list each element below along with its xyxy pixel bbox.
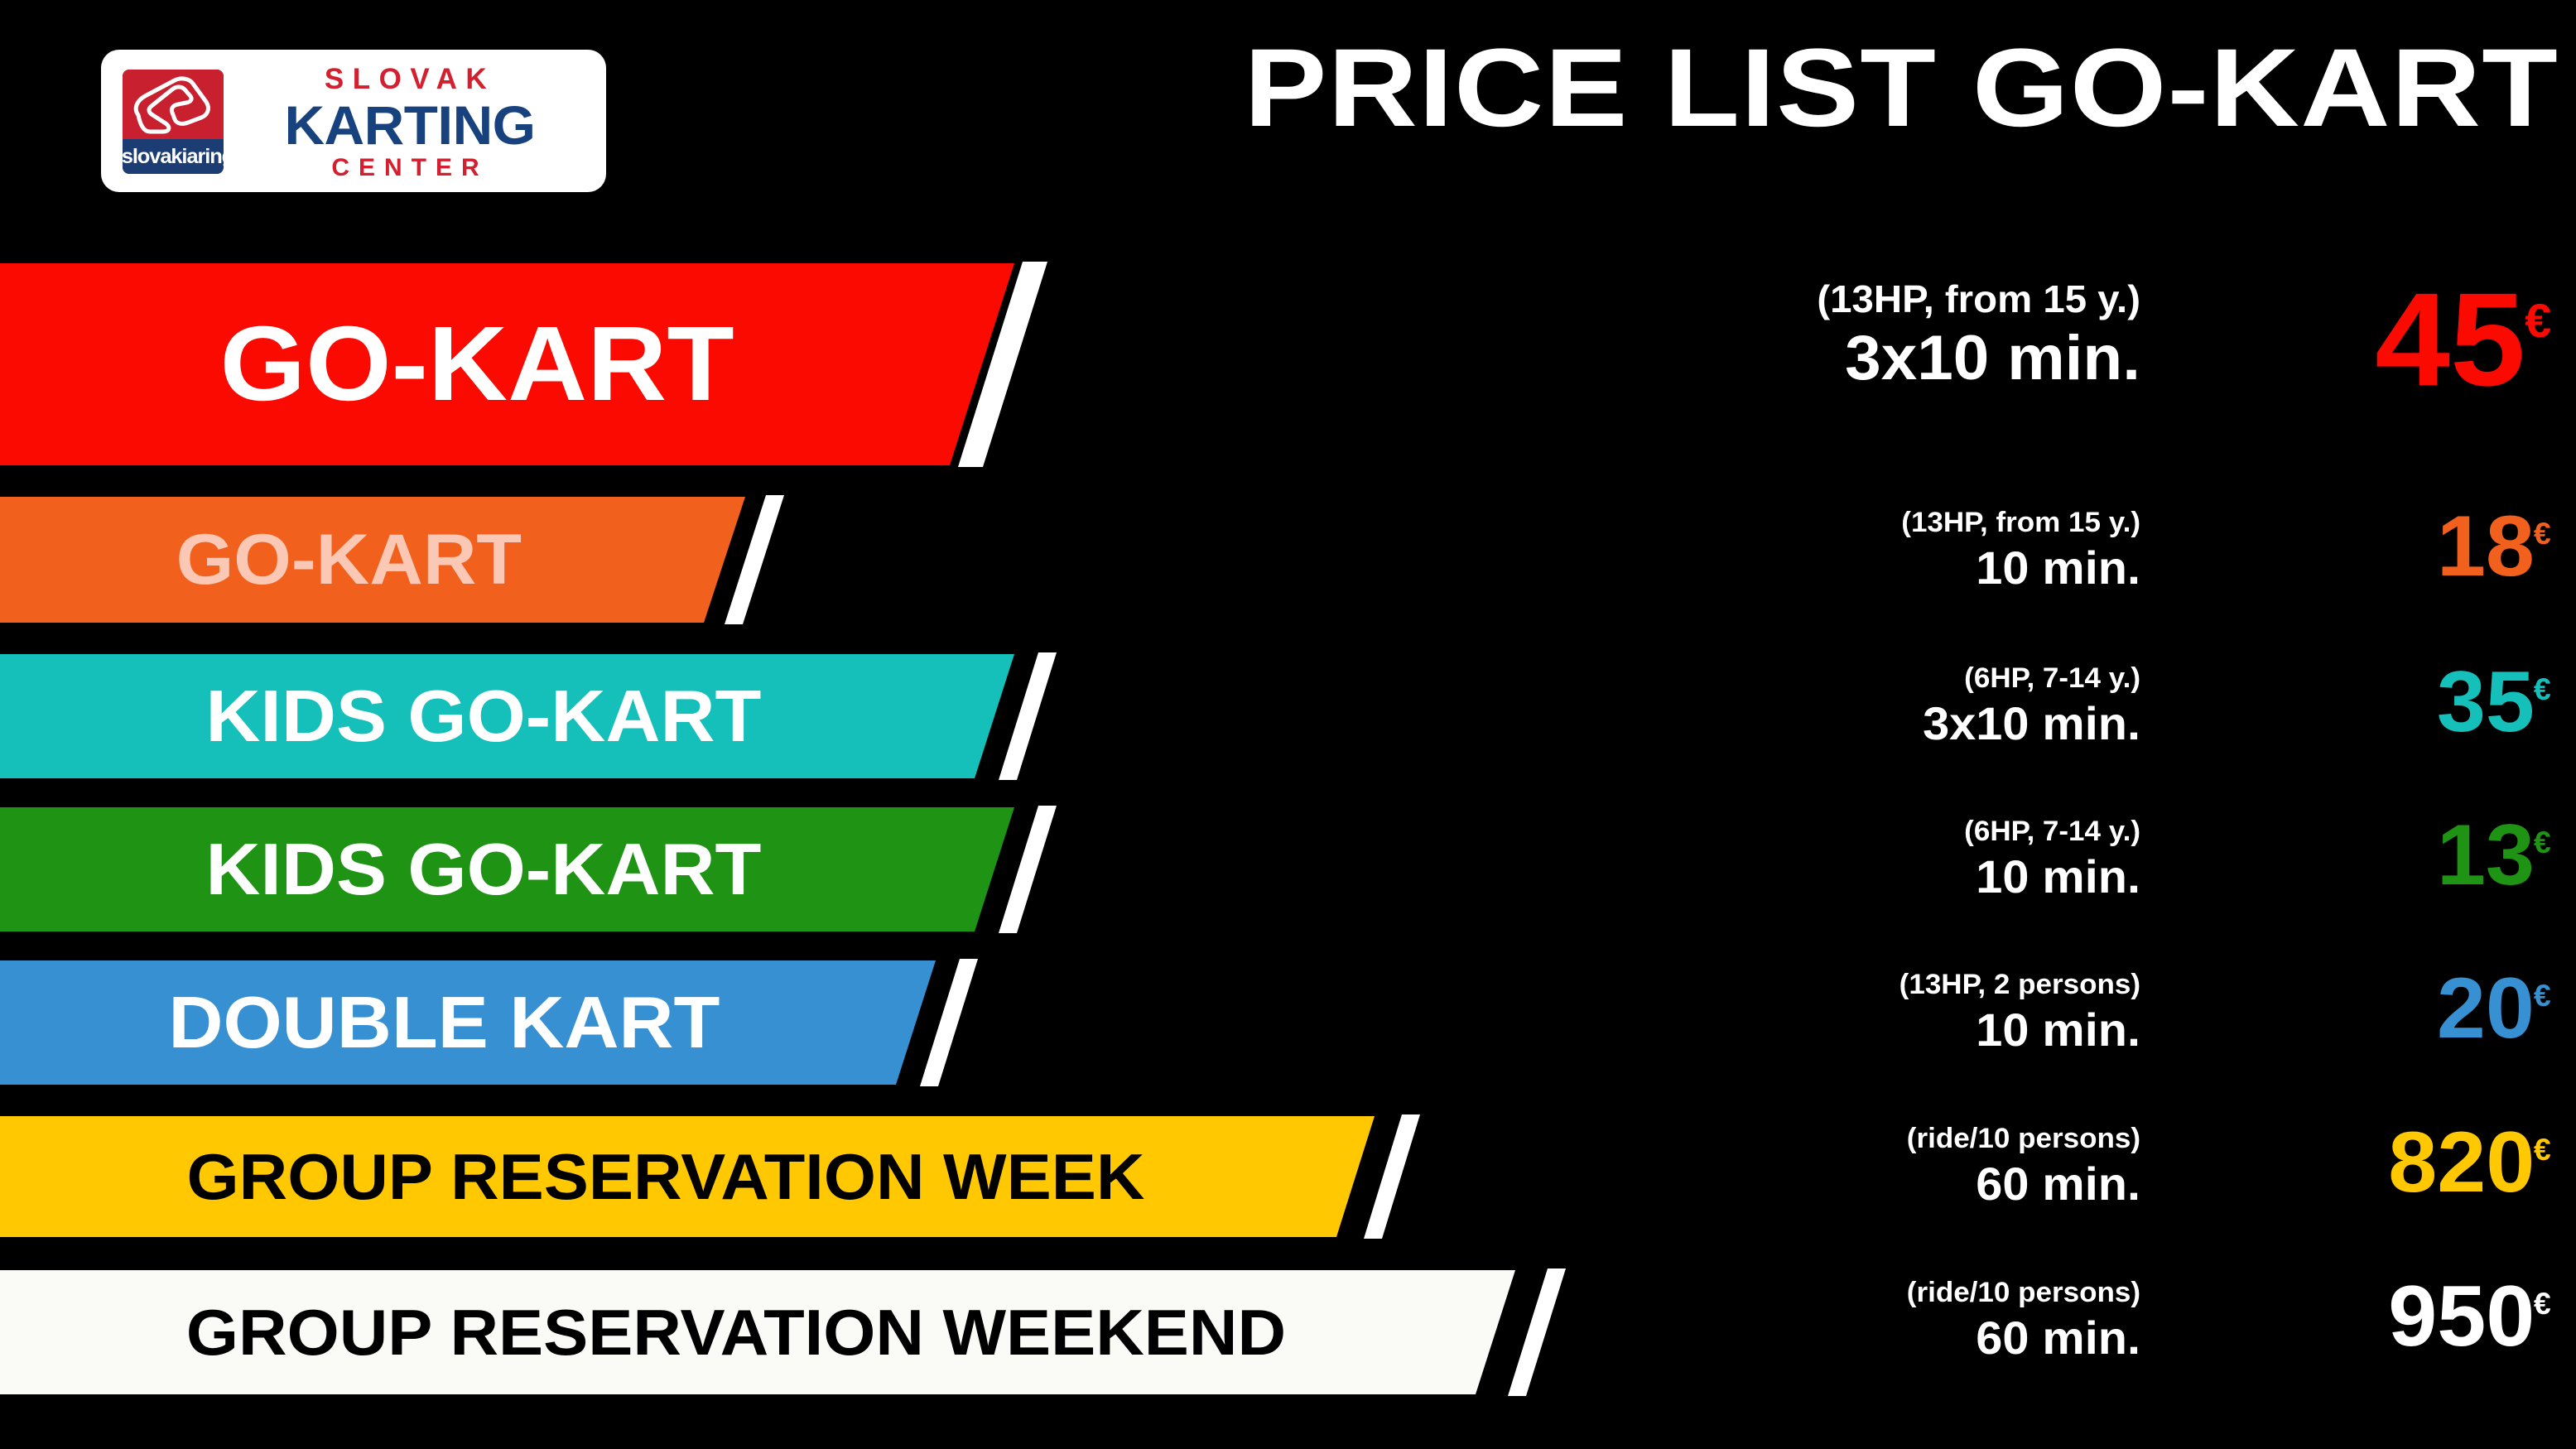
- row-banner-label: GO-KART: [0, 524, 760, 595]
- row-price-amount: 820: [2388, 1119, 2535, 1206]
- slovakiaring-badge: slovakiaring: [123, 70, 224, 174]
- row-price: 45€: [1805, 273, 2550, 406]
- row-banner-label: DOUBLE KART: [0, 986, 955, 1059]
- badge-wordmark: slovakiaring: [123, 139, 224, 174]
- row-banner[interactable]: GO-KART: [0, 497, 745, 623]
- row-price: 35€: [1805, 659, 2550, 745]
- row-banner[interactable]: GO-KART: [0, 263, 1014, 465]
- euro-icon: €: [2534, 1132, 2551, 1167]
- euro-icon: €: [2534, 825, 2551, 859]
- row-banner[interactable]: DOUBLE KART: [0, 960, 936, 1085]
- row-price-amount: 35: [2436, 659, 2534, 745]
- page-title: PRICE LIST GO-KART: [695, 26, 2559, 151]
- euro-icon: €: [2534, 672, 2551, 706]
- logo-wordmark: SLOVAK KARTING CENTER: [232, 63, 588, 182]
- row-price-amount: 18: [2436, 503, 2534, 590]
- row-banner-label: GO-KART: [0, 311, 1035, 417]
- row-price-amount: 13: [2436, 812, 2534, 898]
- row-price-amount: 45: [2375, 273, 2525, 406]
- row-price: 950€: [1805, 1273, 2550, 1360]
- row-banner[interactable]: KIDS GO-KART: [0, 807, 1014, 931]
- euro-icon: €: [2534, 978, 2551, 1013]
- badge-wordmark-text: slovakiaring: [123, 139, 224, 174]
- row-price-amount: 950: [2388, 1273, 2535, 1360]
- logo-line-slovak: SLOVAK: [232, 63, 588, 96]
- row-banner-label: KIDS GO-KART: [0, 680, 1035, 753]
- euro-icon: €: [2525, 295, 2551, 348]
- row-banner[interactable]: KIDS GO-KART: [0, 654, 1014, 778]
- euro-icon: €: [2534, 1286, 2551, 1321]
- row-price: 20€: [1805, 965, 2550, 1052]
- page-header: slovakiaring SLOVAK KARTING CENTER PRICE…: [0, 0, 2576, 240]
- row-banner-label: KIDS GO-KART: [0, 833, 1035, 906]
- logo-line-karting: KARTING: [229, 96, 592, 154]
- badge-track-panel: [123, 70, 224, 139]
- row-price: 13€: [1805, 812, 2550, 898]
- race-track-icon: [127, 72, 219, 138]
- logo-line-center: CENTER: [232, 154, 588, 182]
- euro-icon: €: [2534, 516, 2551, 551]
- row-price: 820€: [1805, 1119, 2550, 1206]
- row-price: 18€: [1805, 503, 2550, 590]
- brand-logo: slovakiaring SLOVAK KARTING CENTER: [101, 50, 606, 192]
- row-price-amount: 20: [2436, 965, 2534, 1052]
